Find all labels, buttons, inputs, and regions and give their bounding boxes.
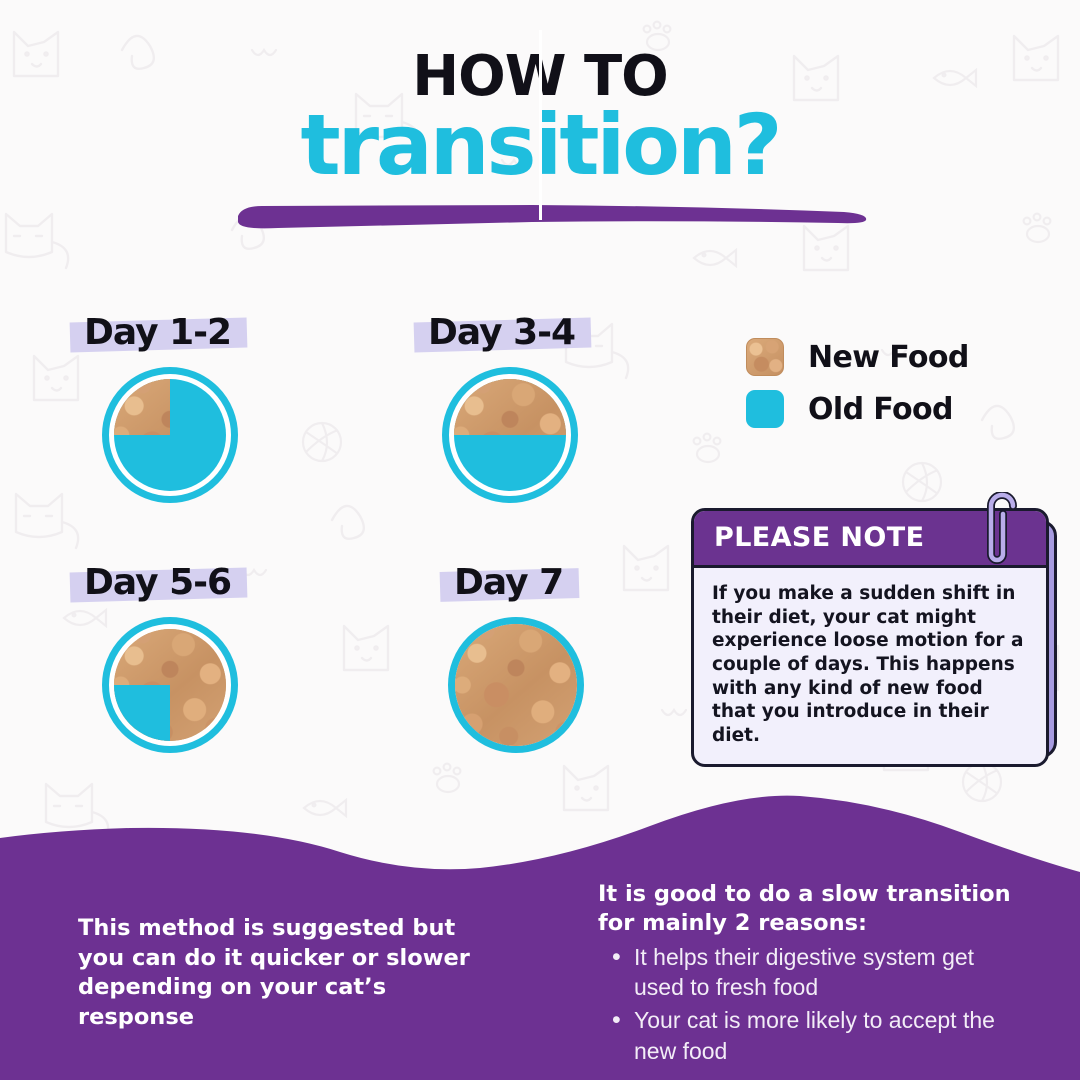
pie-inner-2 (454, 379, 566, 491)
pie-chart-day-3 (102, 617, 238, 753)
day-label-wrap-2: Day 3-4 (428, 312, 575, 353)
list-item: It helps their digestive system get used… (598, 942, 1020, 1004)
footer-right-heading: It is good to do a slow transition for m… (598, 880, 1020, 939)
legend-item-new-food: New Food (746, 338, 969, 376)
pie-chart-day-2 (442, 367, 578, 503)
pie-chart-day-1 (102, 367, 238, 503)
legend-label-old-food: Old Food (808, 392, 953, 427)
new-food-swatch-icon (746, 338, 784, 376)
day-label-3: Day 5-6 (84, 562, 231, 603)
pie-inner-1 (114, 379, 226, 491)
footer-divider (539, 30, 542, 220)
note-card-text: If you make a sudden shift in their diet… (694, 568, 1046, 764)
footer-right-column: It is good to do a slow transition for m… (540, 860, 1080, 1080)
day-card-3: Day 5-6 (84, 562, 238, 753)
pie-inner-3 (114, 629, 226, 741)
day-label-wrap-3: Day 5-6 (84, 562, 231, 603)
legend-item-old-food: Old Food (746, 390, 969, 428)
day-label-4: Day 7 (454, 562, 563, 603)
paperclip-icon (983, 492, 1031, 584)
day-label-wrap-4: Day 7 (454, 562, 563, 603)
footer-reason-list: It helps their digestive system get used… (598, 942, 1020, 1067)
day-label-2: Day 3-4 (428, 312, 575, 353)
day-card-2: Day 3-4 (428, 312, 578, 503)
brush-underline-icon (232, 196, 872, 238)
list-item: Your cat is more likely to accept the ne… (598, 1005, 1020, 1067)
pie-inner-4 (455, 624, 577, 746)
legend: New Food Old Food (746, 338, 969, 442)
footer-left-column: This method is suggested but you can do … (0, 860, 540, 1080)
old-food-swatch-icon (746, 390, 784, 428)
day-label-1: Day 1-2 (84, 312, 231, 353)
footer-content: This method is suggested but you can do … (0, 860, 1080, 1080)
day-card-4: Day 7 (454, 562, 584, 753)
legend-label-new-food: New Food (808, 340, 969, 375)
pie-chart-day-4 (448, 617, 584, 753)
note-card-title: PLEASE NOTE (714, 522, 924, 553)
new-food-slice-4 (455, 624, 577, 746)
footer-left-text: This method is suggested but you can do … (78, 914, 480, 1033)
day-label-wrap-1: Day 1-2 (84, 312, 231, 353)
day-card-1: Day 1-2 (84, 312, 238, 503)
please-note-card: PLEASE NOTE If you make a sudden shift i… (691, 508, 1049, 767)
